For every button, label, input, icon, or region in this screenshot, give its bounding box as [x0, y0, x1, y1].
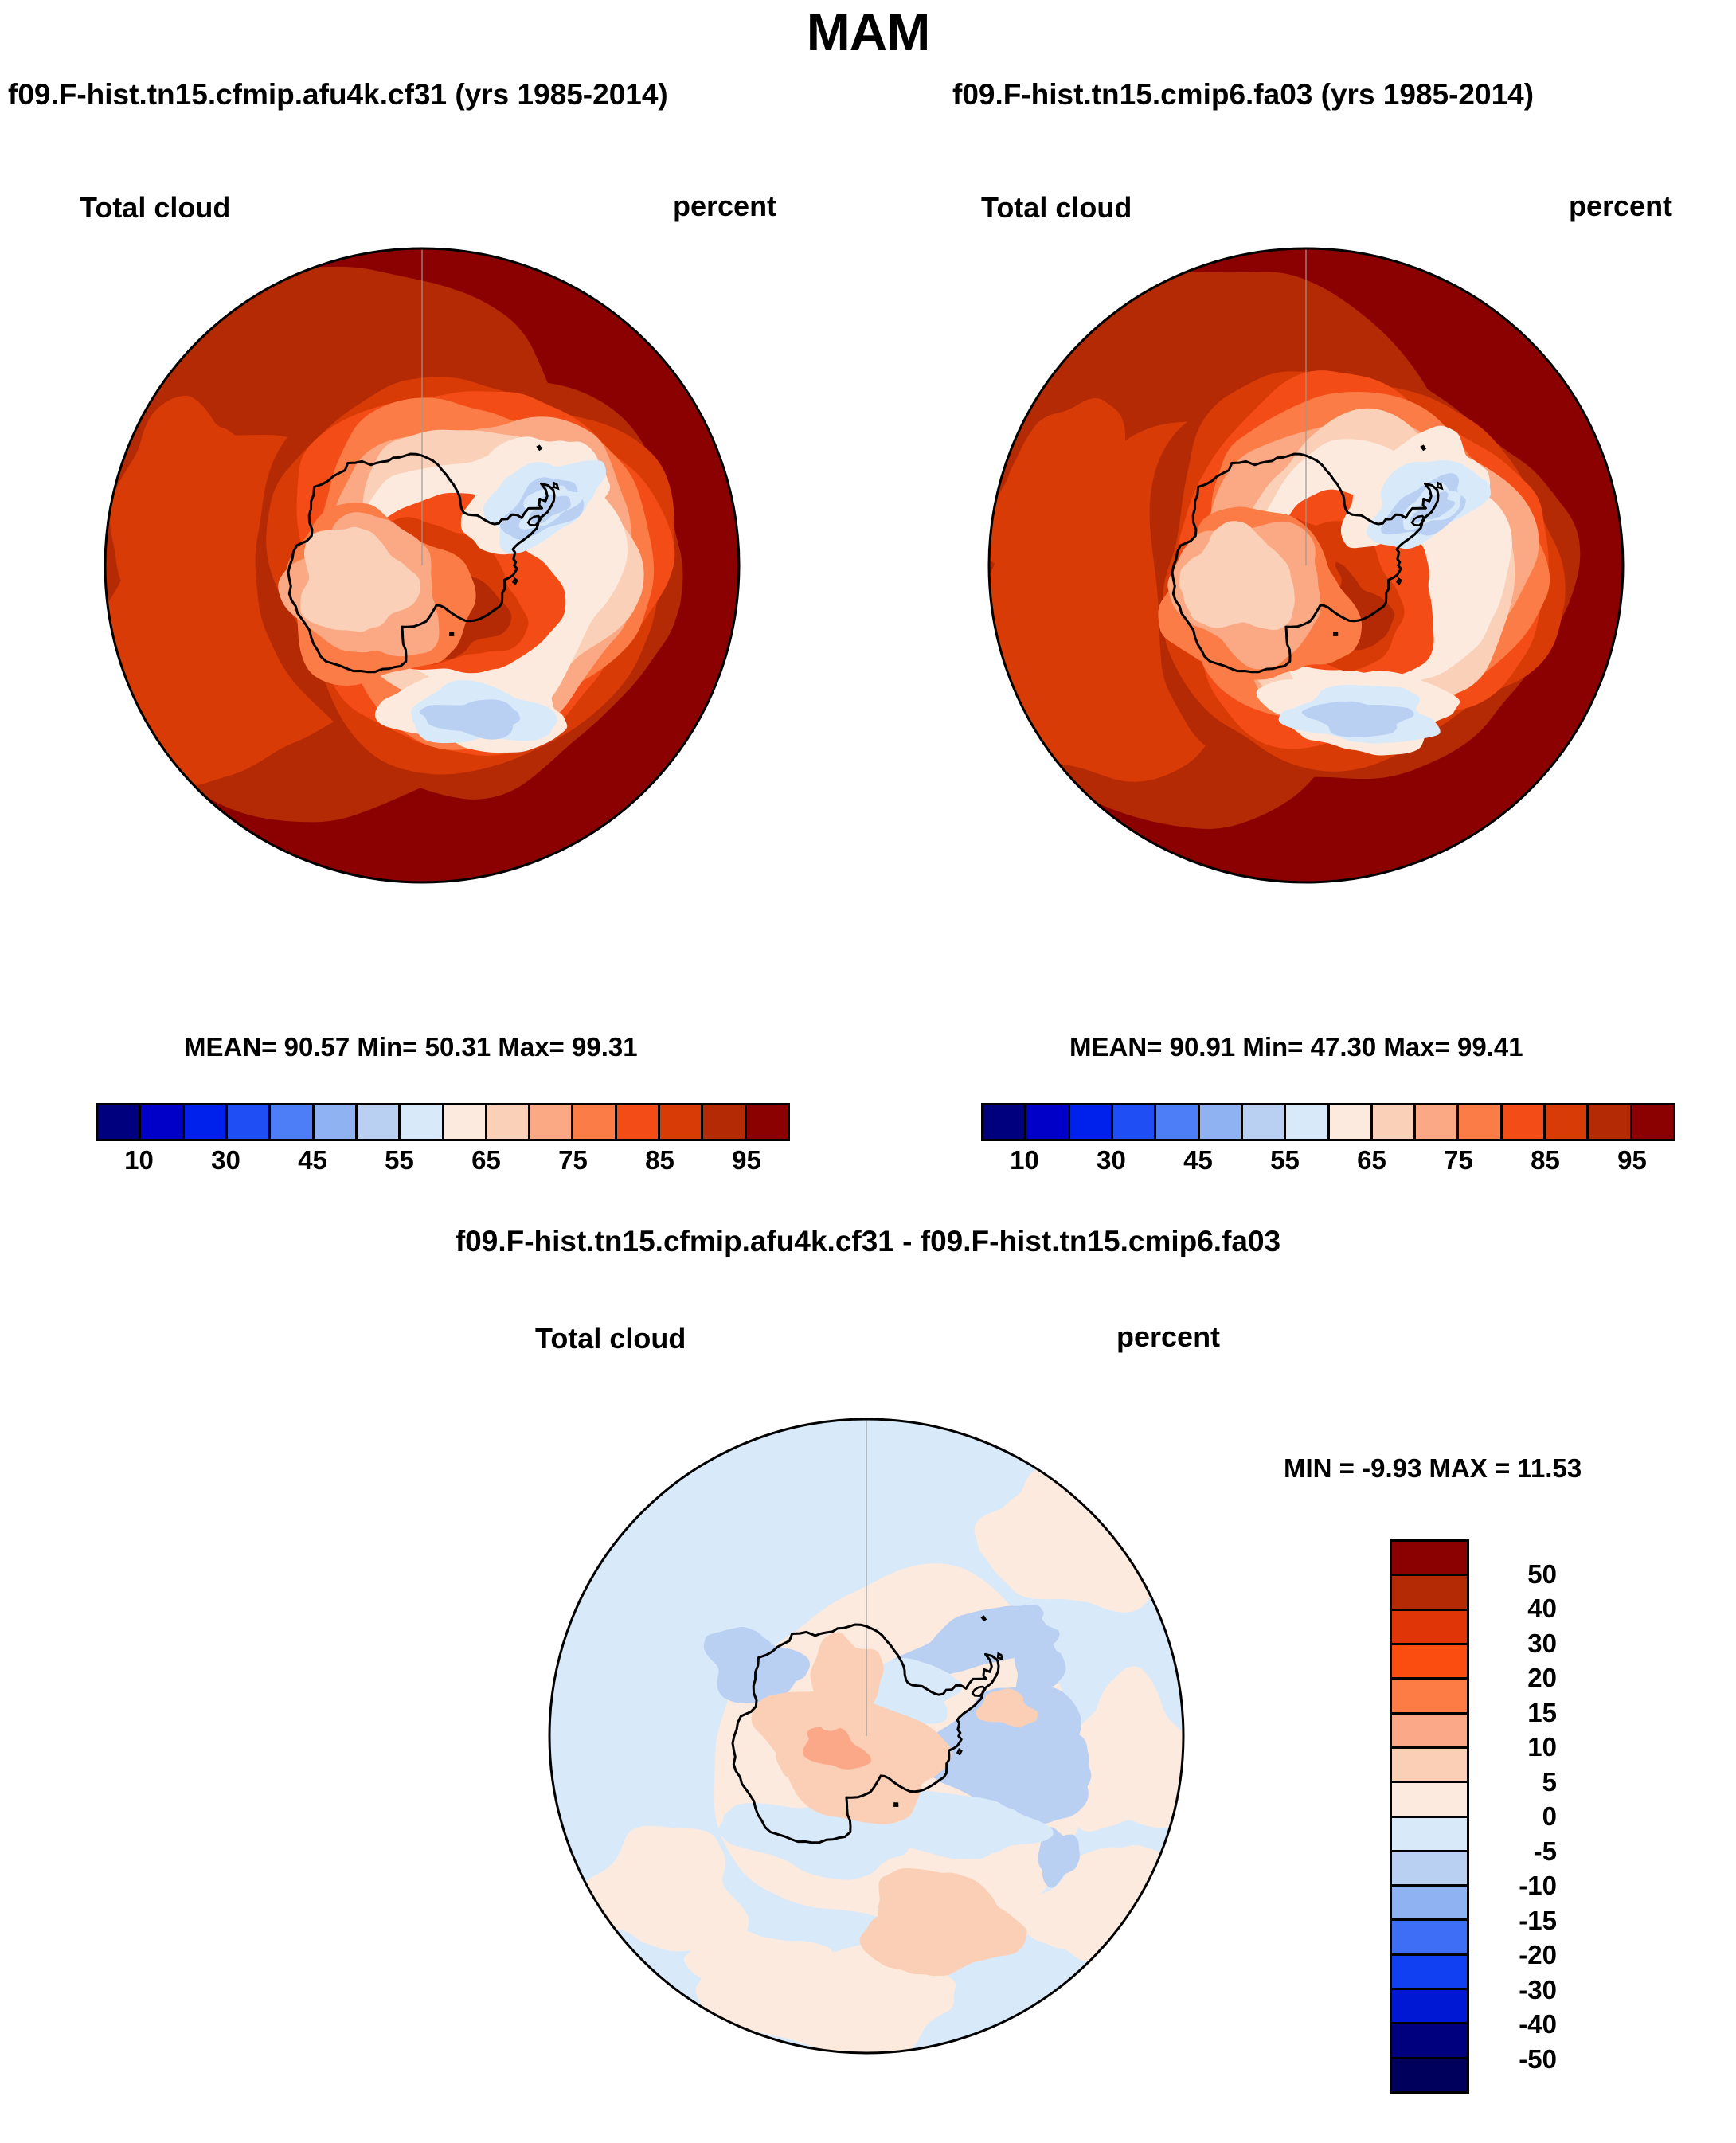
colorbar-tick-label: -30: [1477, 1975, 1557, 2005]
colorbar-cell: [1392, 1956, 1467, 1990]
colorbar-tick-label: 55: [385, 1145, 414, 1175]
colorbar-tick-label: 75: [1444, 1145, 1473, 1175]
difference-variable-label: Total cloud: [535, 1322, 686, 1355]
diff-map-svg: [532, 1402, 1201, 2071]
colorbar-cell: [617, 1105, 660, 1139]
colorbar-cell: [1392, 1921, 1467, 1955]
colorbar-cell: [660, 1105, 703, 1139]
coastline-detail: [982, 1617, 985, 1620]
colorbar-cell: [1416, 1105, 1459, 1139]
difference-units-label: percent: [1116, 1320, 1220, 1354]
colorbar-cell: [401, 1105, 444, 1139]
right-panel-title: f09.F-hist.tn15.cmip6.fa03 (yrs 1985-201…: [952, 78, 1534, 111]
colorbar-cell: [1156, 1105, 1199, 1139]
difference-polar-map: [532, 1402, 1201, 2071]
colorbar-tick-label: 20: [1477, 1663, 1557, 1693]
right-polar-map: [972, 231, 1640, 900]
left-colorbar-ticks: 1030455565758595: [96, 1145, 790, 1182]
colorbar-cell: [1243, 1105, 1286, 1139]
colorbar-tick-label: -10: [1477, 1871, 1557, 1901]
difference-panel-title: f09.F-hist.tn15.cfmip.afu4k.cf31 - f09.F…: [0, 1225, 1736, 1258]
colorbar-tick-label: -50: [1477, 2044, 1557, 2075]
colorbar-cell: [747, 1105, 788, 1139]
colorbar-cell: [1392, 1680, 1467, 1714]
colorbar-tick-label: 65: [471, 1145, 501, 1175]
difference-colorbar-ticks: 50403020151050-5-10-15-20-30-40-50: [1477, 1539, 1581, 2094]
colorbar-tick-label: -5: [1477, 1836, 1557, 1867]
colorbar-tick-label: 30: [1097, 1145, 1126, 1175]
colorbar-tick-label: 85: [645, 1145, 674, 1175]
colorbar-tick-label: 30: [1477, 1629, 1557, 1659]
colorbar-tick-label: 10: [1477, 1732, 1557, 1762]
colorbar-cell: [1392, 1818, 1467, 1852]
colorbar-tick-label: -15: [1477, 1906, 1557, 1936]
colorbar-tick-label: 75: [558, 1145, 588, 1175]
colorbar-tick-label: 95: [732, 1145, 761, 1175]
left-stats: MEAN= 90.57 Min= 50.31 Max= 99.31: [184, 1032, 638, 1062]
colorbar-cell: [98, 1105, 141, 1139]
colorbar-tick-label: 10: [124, 1145, 154, 1175]
colorbar-cell: [1286, 1105, 1329, 1139]
difference-colorbar[interactable]: [1390, 1539, 1469, 2094]
colorbar-cell: [1392, 1852, 1467, 1887]
colorbar-tick-label: 85: [1531, 1145, 1560, 1175]
right-colorbar-ticks: 1030455565758595: [981, 1145, 1675, 1182]
colorbar-cell: [444, 1105, 487, 1139]
colorbar-cell: [1373, 1105, 1416, 1139]
page-title: MAM: [0, 2, 1736, 62]
colorbar-cell: [530, 1105, 573, 1139]
colorbar-cell: [1392, 1576, 1467, 1610]
colorbar-cell: [487, 1105, 530, 1139]
colorbar-cell: [1113, 1105, 1156, 1139]
colorbar-cell: [983, 1105, 1026, 1139]
colorbar-cell: [185, 1105, 228, 1139]
colorbar-tick-label: 40: [1477, 1594, 1557, 1624]
coastline-detail: [1421, 446, 1425, 449]
colorbar-tick-label: 50: [1477, 1559, 1557, 1590]
colorbar-tick-label: -20: [1477, 1940, 1557, 1970]
right-variable-label: Total cloud: [981, 191, 1132, 225]
colorbar-cell: [271, 1105, 314, 1139]
colorbar-tick-label: -40: [1477, 2009, 1557, 2039]
colorbar-tick-label: 55: [1270, 1145, 1300, 1175]
difference-stats: MIN = -9.93 MAX = 11.53: [1284, 1453, 1582, 1484]
colorbar-cell: [1026, 1105, 1069, 1139]
colorbar-cell: [1392, 1783, 1467, 1817]
colorbar-cell: [1392, 1611, 1467, 1645]
colorbar-tick-label: 45: [1183, 1145, 1213, 1175]
map-contour-band: [983, 398, 1143, 593]
colorbar-cell: [1589, 1105, 1632, 1139]
colorbar-cell: [703, 1105, 746, 1139]
left-colorbar[interactable]: [96, 1103, 790, 1141]
colorbar-cell: [1459, 1105, 1502, 1139]
colorbar-tick-label: 45: [298, 1145, 327, 1175]
abs-map-svg: [972, 231, 1640, 900]
colorbar-tick-label: 10: [1010, 1145, 1039, 1175]
abs-map-svg: [88, 231, 757, 900]
colorbar-cell: [315, 1105, 358, 1139]
map-fill-layer: [88, 248, 739, 882]
colorbar-cell: [1392, 1645, 1467, 1680]
colorbar-tick-label: 65: [1357, 1145, 1386, 1175]
colorbar-cell: [573, 1105, 616, 1139]
colorbar-cell: [141, 1105, 184, 1139]
colorbar-cell: [1330, 1105, 1373, 1139]
colorbar-cell: [1392, 1715, 1467, 1749]
colorbar-cell: [1392, 1990, 1467, 2024]
left-panel-title: f09.F-hist.tn15.cfmip.afu4k.cf31 (yrs 19…: [8, 78, 668, 111]
colorbar-tick-label: 15: [1477, 1698, 1557, 1728]
colorbar-tick-label: 5: [1477, 1767, 1557, 1797]
colorbar-cell: [1632, 1105, 1673, 1139]
colorbar-cell: [1392, 2059, 1467, 2091]
right-units-label: percent: [1569, 190, 1672, 223]
left-polar-map: [88, 231, 757, 900]
colorbar-tick-label: 95: [1617, 1145, 1647, 1175]
map-fill-layer: [972, 248, 1623, 882]
colorbar-cell: [1546, 1105, 1589, 1139]
coastline-detail: [538, 446, 541, 449]
colorbar-cell: [1070, 1105, 1113, 1139]
colorbar-cell: [358, 1105, 401, 1139]
right-stats: MEAN= 90.91 Min= 47.30 Max= 99.41: [1069, 1032, 1523, 1062]
colorbar-tick-label: 30: [211, 1145, 240, 1175]
colorbar-cell: [1200, 1105, 1243, 1139]
right-colorbar[interactable]: [981, 1103, 1675, 1141]
colorbar-cell: [1503, 1105, 1546, 1139]
colorbar-cell: [1392, 1749, 1467, 1783]
left-units-label: percent: [673, 190, 776, 223]
colorbar-tick-label: 0: [1477, 1801, 1557, 1832]
colorbar-cell: [228, 1105, 271, 1139]
left-variable-label: Total cloud: [80, 191, 230, 225]
colorbar-cell: [1392, 1542, 1467, 1576]
colorbar-cell: [1392, 2024, 1467, 2059]
colorbar-cell: [1392, 1887, 1467, 1921]
